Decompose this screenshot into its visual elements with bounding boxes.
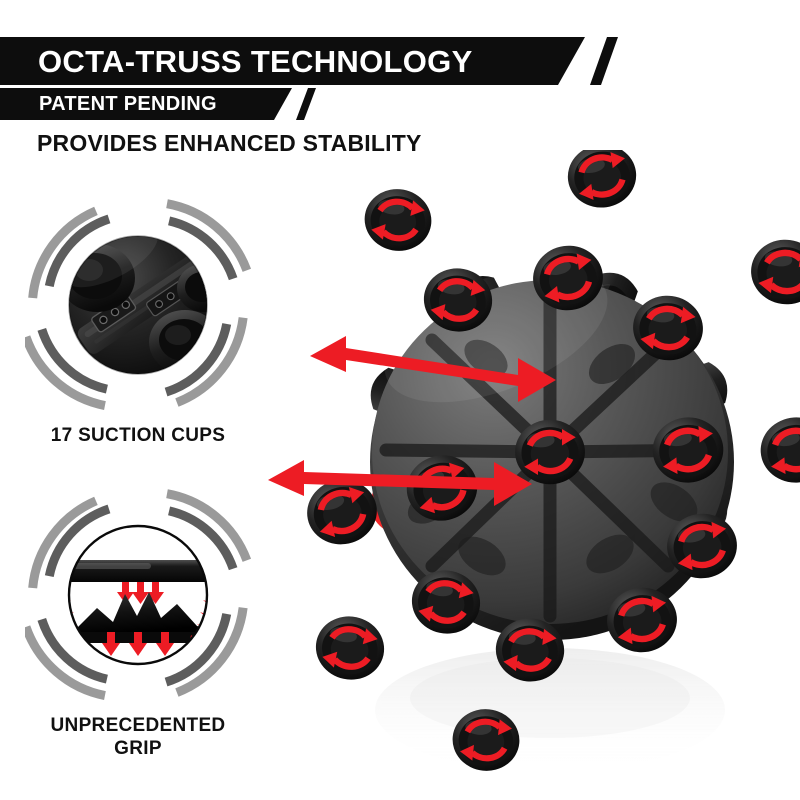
feature-caption-suction-cups: 17 SUCTION CUPS — [18, 424, 258, 447]
infographic-canvas: OCTA-TRUSS TECHNOLOGY PATENT PENDING PRO… — [0, 0, 800, 800]
suction-cup-center — [515, 420, 585, 484]
suction-cup — [564, 150, 641, 212]
badge-suction-cups — [25, 192, 251, 418]
title-banner: OCTA-TRUSS TECHNOLOGY — [0, 37, 585, 85]
patent-banner: PATENT PENDING — [0, 88, 292, 120]
suction-cup — [360, 184, 437, 256]
patent-banner-accent-tip — [296, 88, 316, 120]
suction-cup — [758, 415, 800, 485]
feature-caption-grip: UNPRECEDENTED GRIP — [18, 714, 258, 760]
suction-cup — [310, 610, 390, 686]
product-image-octa-truss-mount — [250, 150, 800, 790]
title-banner-accent-tip — [590, 37, 618, 85]
feature-grip: UNPRECEDENTED GRIP — [18, 482, 258, 760]
feature-suction-cups: 17 SUCTION CUPS — [18, 192, 258, 447]
page-title: OCTA-TRUSS TECHNOLOGY — [38, 46, 473, 77]
badge-grip — [25, 482, 251, 708]
patent-label: PATENT PENDING — [39, 94, 217, 114]
suction-cup — [747, 235, 800, 309]
